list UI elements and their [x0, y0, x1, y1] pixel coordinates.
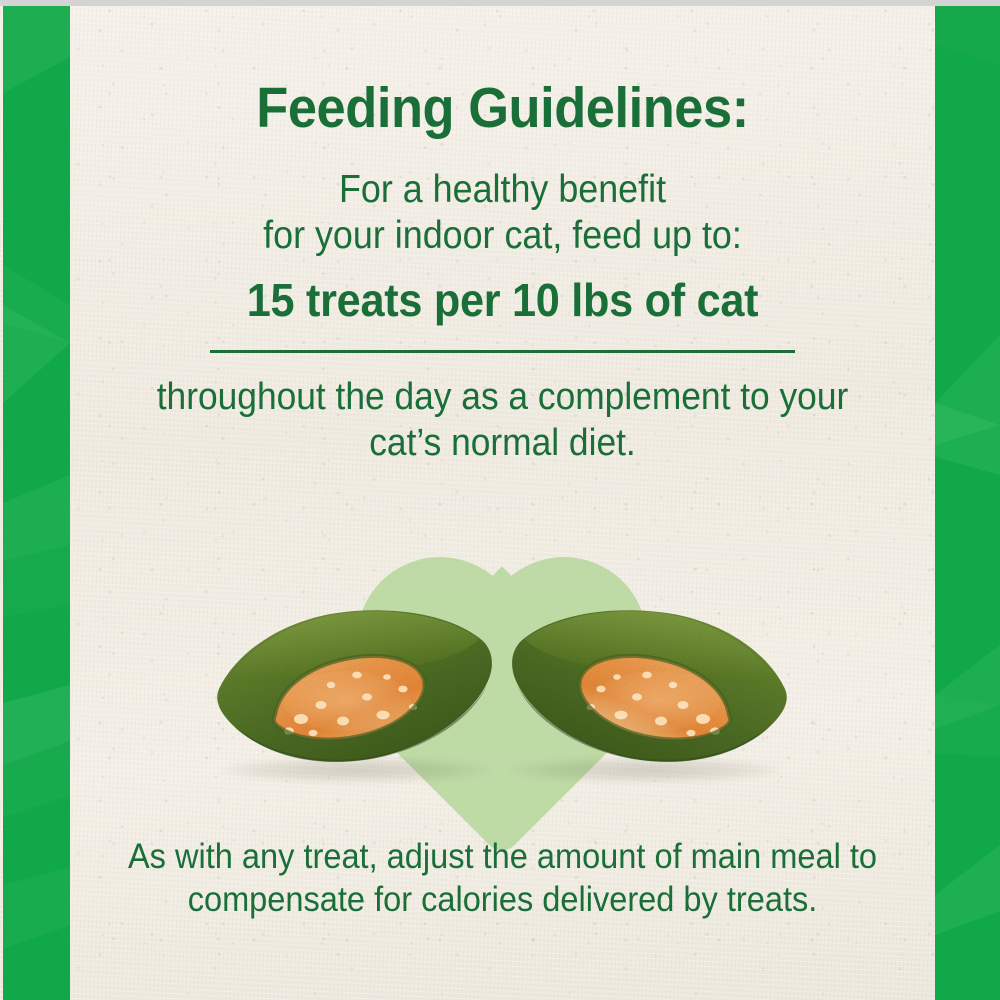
footnote-line-1: As with any treat, adjust the amount of … — [100, 836, 904, 879]
cat-treat-right-art — [507, 597, 787, 772]
footnote-paragraph: As with any treat, adjust the amount of … — [100, 836, 904, 921]
right-bar-facets — [935, 5, 1000, 1000]
subtext-paragraph: throughout the day as a complement to yo… — [100, 375, 904, 466]
page-title: Feeding Guidelines: — [105, 79, 901, 137]
subtext-line-2: cat’s normal diet. — [100, 421, 904, 467]
package-panel: Feeding Guidelines: For a healthy benefi… — [0, 0, 1000, 1000]
lead-line-1: For a healthy benefit — [105, 167, 901, 213]
feeding-amount-highlight: 15 treats per 10 lbs of cat — [96, 276, 909, 324]
cat-treat-right-image — [507, 597, 787, 772]
cat-treat-left-image — [217, 597, 497, 772]
cat-treat-left-art — [217, 597, 497, 772]
top-gray-band — [0, 0, 1000, 6]
divider-rule — [210, 350, 795, 353]
lead-paragraph: For a healthy benefit for your indoor ca… — [105, 167, 901, 259]
left-bar-facets — [3, 5, 70, 1000]
subtext-line-1: throughout the day as a complement to yo… — [100, 375, 904, 421]
left-green-bar — [3, 5, 70, 1000]
product-image-zone — [70, 545, 935, 815]
footnote-line-2: compensate for calories delivered by tre… — [100, 879, 904, 922]
lead-line-2: for your indoor cat, feed up to: — [105, 213, 901, 259]
right-green-bar — [935, 5, 1000, 1000]
